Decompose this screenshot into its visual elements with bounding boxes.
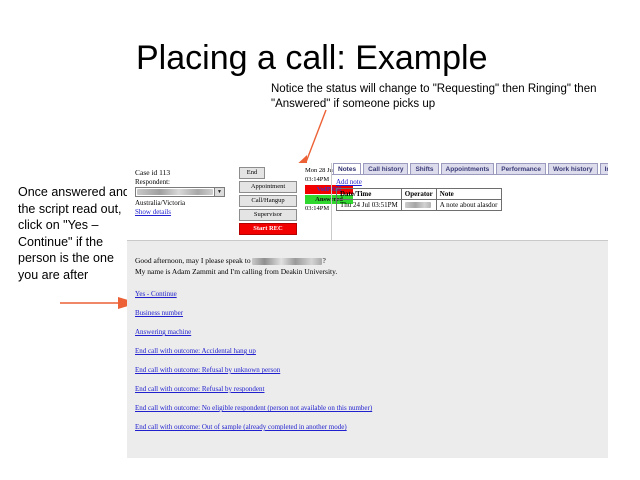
- table-header-row: Date/Time Operator Note: [337, 189, 502, 200]
- outcome-options-list: Yes - Continue Business number Answering…: [135, 290, 608, 432]
- page-title: Placing a call: Example: [136, 38, 488, 78]
- respondent-value-redacted: [137, 189, 213, 195]
- column-header-datetime: Date/Time: [337, 189, 402, 200]
- table-row[interactable]: Thu 24 Jul 03:51PM A note about alasdor: [337, 200, 502, 211]
- option-yes-continue[interactable]: Yes - Continue: [135, 290, 177, 299]
- notes-table: Date/Time Operator Note Thu 24 Jul 03:51…: [336, 188, 502, 211]
- end-button[interactable]: End: [239, 167, 265, 179]
- annotation-status-note: Notice the status will change to "Reques…: [271, 82, 601, 111]
- script-area: Good afternoon, may I please speak to ? …: [127, 241, 608, 458]
- action-buttons-group: End Appointment Call/Hangup Supervisor S…: [239, 167, 297, 237]
- add-note-link[interactable]: Add note: [336, 178, 362, 186]
- cell-operator: [401, 200, 436, 211]
- cell-note: A note about alasdor: [436, 200, 501, 211]
- option-business-number[interactable]: Business number: [135, 309, 183, 318]
- tab-call-history[interactable]: Call history: [363, 163, 408, 174]
- option-refusal-respondent[interactable]: End call with outcome: Refusal by respon…: [135, 385, 264, 394]
- tab-appointments[interactable]: Appointments: [441, 163, 495, 174]
- option-answering-machine[interactable]: Answering machine: [135, 328, 191, 337]
- respondent-select[interactable]: ▼: [135, 187, 225, 197]
- cell-datetime: Thu 24 Jul 03:51PM: [337, 200, 402, 211]
- script-line-1-suffix: ?: [322, 256, 325, 265]
- tab-info[interactable]: Info: [600, 163, 608, 174]
- chevron-down-icon[interactable]: ▼: [214, 188, 224, 196]
- option-out-of-sample[interactable]: End call with outcome: Out of sample (al…: [135, 423, 347, 432]
- tab-notes[interactable]: Notes: [333, 163, 361, 174]
- notes-panel: Notes Call history Shifts Appointments P…: [331, 163, 608, 240]
- script-line-1: Good afternoon, may I please speak to ?: [135, 255, 608, 266]
- tab-bar: Notes Call history Shifts Appointments P…: [332, 163, 608, 175]
- script-line-2: My name is Adam Zammit and I'm calling f…: [135, 266, 608, 277]
- respondent-name-redacted: [252, 258, 322, 265]
- start-rec-button[interactable]: Start REC: [239, 223, 297, 235]
- tab-performance[interactable]: Performance: [496, 163, 546, 174]
- timezone-label: Australia/Victoria: [135, 199, 231, 207]
- respondent-label: Respondent:: [135, 178, 231, 186]
- case-id-label: Case id 113: [135, 168, 231, 177]
- option-refusal-unknown-person[interactable]: End call with outcome: Refusal by unknow…: [135, 366, 280, 375]
- column-header-operator: Operator: [401, 189, 436, 200]
- app-top-region: Case id 113 Respondent: ▼ Australia/Vict…: [127, 163, 608, 241]
- tab-shifts[interactable]: Shifts: [410, 163, 438, 174]
- notes-body: Add note Date/Time Operator Note Thu 24 …: [332, 175, 608, 211]
- annotation-yes-continue-note: Once answered and the script read out, c…: [18, 184, 130, 283]
- column-header-note: Note: [436, 189, 501, 200]
- tab-work-history[interactable]: Work history: [548, 163, 598, 174]
- supervisor-button[interactable]: Supervisor: [239, 209, 297, 221]
- case-details-panel: Case id 113 Respondent: ▼ Australia/Vict…: [135, 168, 231, 217]
- appointment-button[interactable]: Appointment: [239, 181, 297, 193]
- call-hangup-button[interactable]: Call/Hangup: [239, 195, 297, 207]
- option-accidental-hang-up[interactable]: End call with outcome: Accidental hang u…: [135, 347, 256, 356]
- show-details-link[interactable]: Show details: [135, 208, 231, 216]
- operator-value-redacted: [405, 202, 431, 208]
- option-no-eligible-respondent[interactable]: End call with outcome: No eligible respo…: [135, 404, 372, 413]
- script-line-1-prefix: Good afternoon, may I please speak to: [135, 256, 252, 265]
- embedded-app-screenshot: Case id 113 Respondent: ▼ Australia/Vict…: [127, 163, 608, 458]
